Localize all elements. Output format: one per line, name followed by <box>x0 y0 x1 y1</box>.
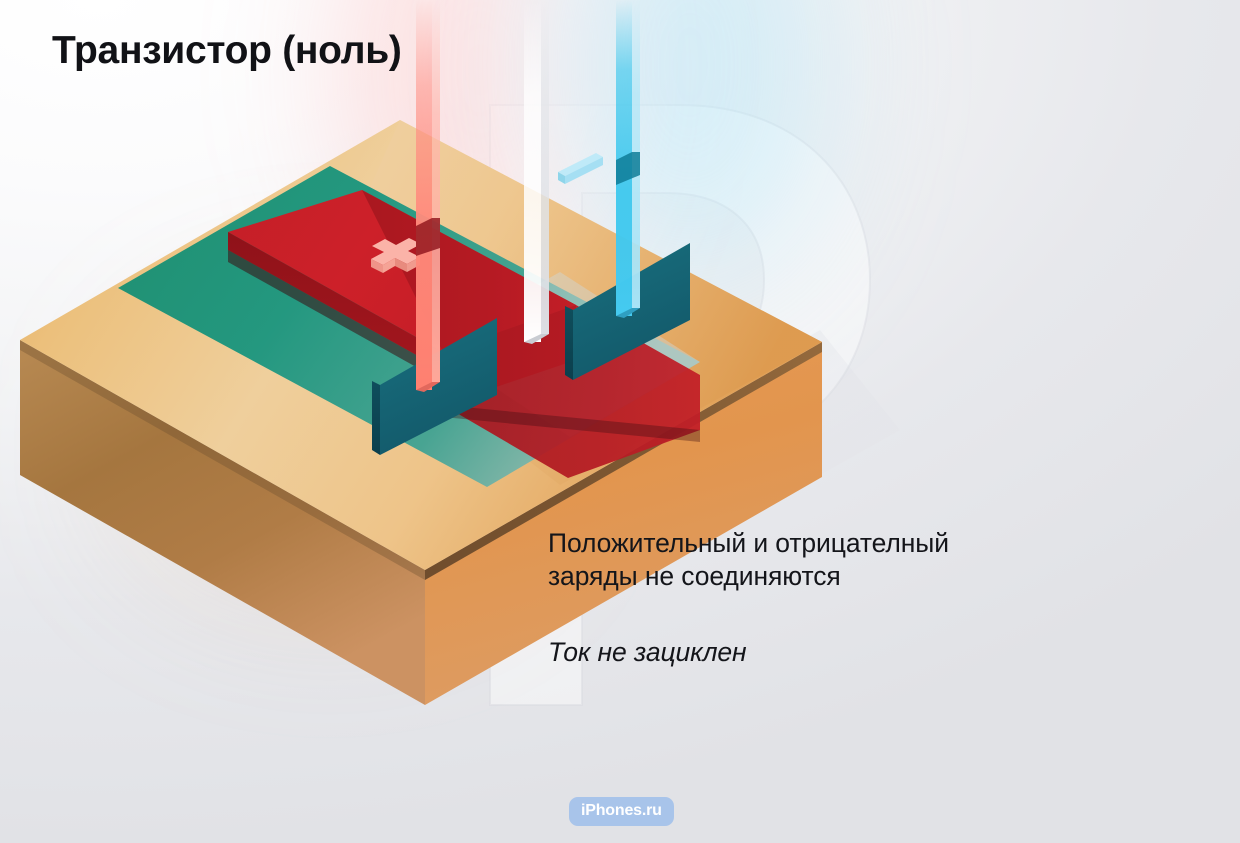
wire-positive <box>416 0 440 392</box>
negative-charge-mark <box>558 153 603 184</box>
page-title: Транзистор (ноль) <box>52 29 402 73</box>
slide-canvas: Транзистор (ноль) Положительный и отрица… <box>0 0 1240 843</box>
caption-line-1: Положительный и отрицателный <box>548 527 1108 560</box>
transistor-diagram <box>0 0 1240 843</box>
caption-block: Положительный и отрицателный заряды не с… <box>548 527 1108 668</box>
caption-italic-note: Ток не зациклен <box>548 637 1108 668</box>
watermark-badge[interactable]: iPhones.ru <box>569 797 674 826</box>
wire-neutral <box>524 0 549 344</box>
caption-line-2: заряды не соединяются <box>548 560 1108 593</box>
